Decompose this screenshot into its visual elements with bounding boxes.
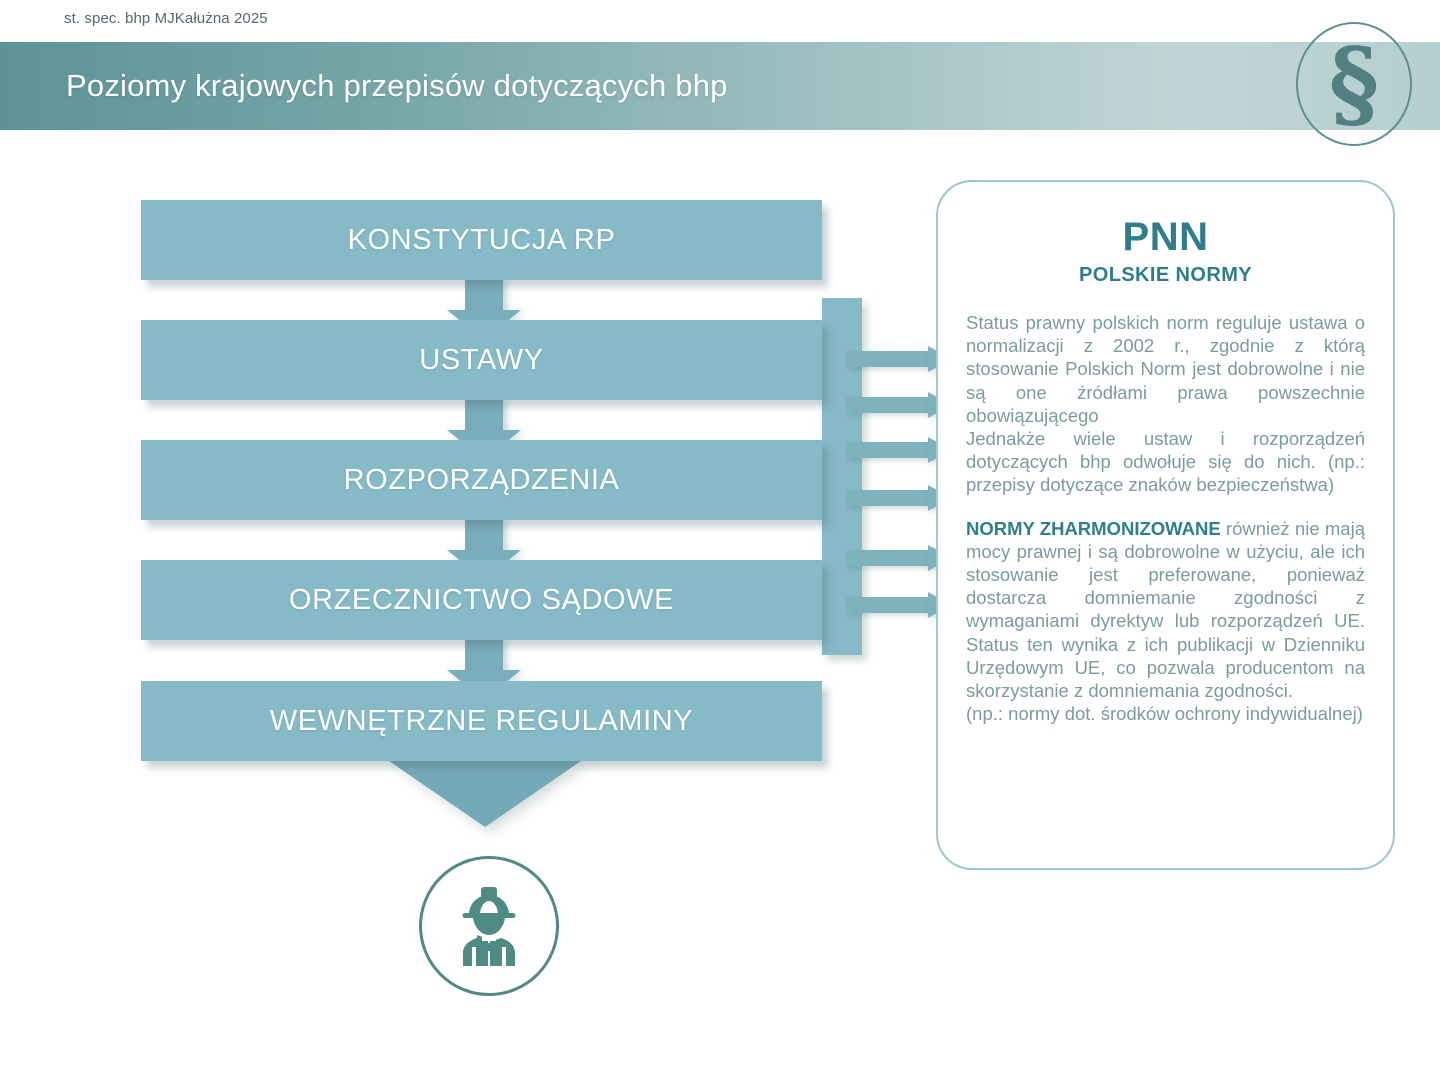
arrow-shaft <box>846 397 930 413</box>
pnn-body: Status prawny polskich norm reguluje ust… <box>966 311 1365 725</box>
worker-glyph <box>446 883 532 969</box>
hierarchy-flow: KONSTYTUCJA RP USTAWY ROZPORZĄDZENIA ORZ… <box>0 0 940 1080</box>
flow-level-label: USTAWY <box>419 344 543 377</box>
flow-level-label: KONSTYTUCJA RP <box>348 224 616 257</box>
worker-helmet-icon <box>419 856 559 996</box>
pnn-panel: PNN POLSKIE NORMY Status prawny polskich… <box>936 180 1395 870</box>
flow-level-label: ORZECZNICTWO SĄDOWE <box>289 584 674 617</box>
pnn-title: PNN <box>966 216 1365 258</box>
flow-level-rozporzadzenia[interactable]: ROZPORZĄDZENIA <box>141 440 822 520</box>
arrow-shaft <box>465 516 503 552</box>
paragraph-section-icon: § <box>1296 22 1412 146</box>
arrow-shaft <box>465 276 503 312</box>
pnn-paragraph-4: (np.: normy dot. środków ochrony indywid… <box>966 702 1365 725</box>
arrow-shaft <box>465 636 503 672</box>
pnn-subtitle: POLSKIE NORMY <box>966 264 1365 287</box>
flow-level-label: ROZPORZĄDZENIA <box>344 464 620 497</box>
arrow-head-down-icon <box>389 761 581 827</box>
pnn-paragraph-3-rest: również nie mają mocy prawnej i są dobro… <box>966 518 1365 701</box>
pnn-paragraph-3: NORMY ZHARMONIZOWANE również nie mają mo… <box>966 517 1365 703</box>
flow-level-regulaminy[interactable]: WEWNĘTRZNE REGULAMINY <box>141 681 822 761</box>
down-arrow-final <box>389 761 581 827</box>
flow-level-label: WEWNĘTRZNE REGULAMINY <box>270 705 693 738</box>
section-sign-glyph: § <box>1329 36 1379 132</box>
flow-level-konstytucja[interactable]: KONSTYTUCJA RP <box>141 200 822 280</box>
arrow-shaft <box>846 490 930 506</box>
pnn-paragraph-1: Status prawny polskich norm reguluje ust… <box>966 311 1365 427</box>
arrow-shaft <box>846 550 930 566</box>
arrow-shaft <box>846 442 930 458</box>
pnn-bold-lead: NORMY ZHARMONIZOWANE <box>966 518 1221 539</box>
arrow-shaft <box>465 396 503 432</box>
flow-level-ustawy[interactable]: USTAWY <box>141 320 822 400</box>
arrow-shaft <box>846 597 930 613</box>
arrow-shaft <box>846 351 930 367</box>
flow-level-orzecznictwo[interactable]: ORZECZNICTWO SĄDOWE <box>141 560 822 640</box>
slide-canvas: st. spec. bhp MJKałużna 2025 Poziomy kra… <box>0 0 1440 1080</box>
pnn-paragraph-2: Jednakże wiele ustaw i rozporządzeń doty… <box>966 427 1365 497</box>
